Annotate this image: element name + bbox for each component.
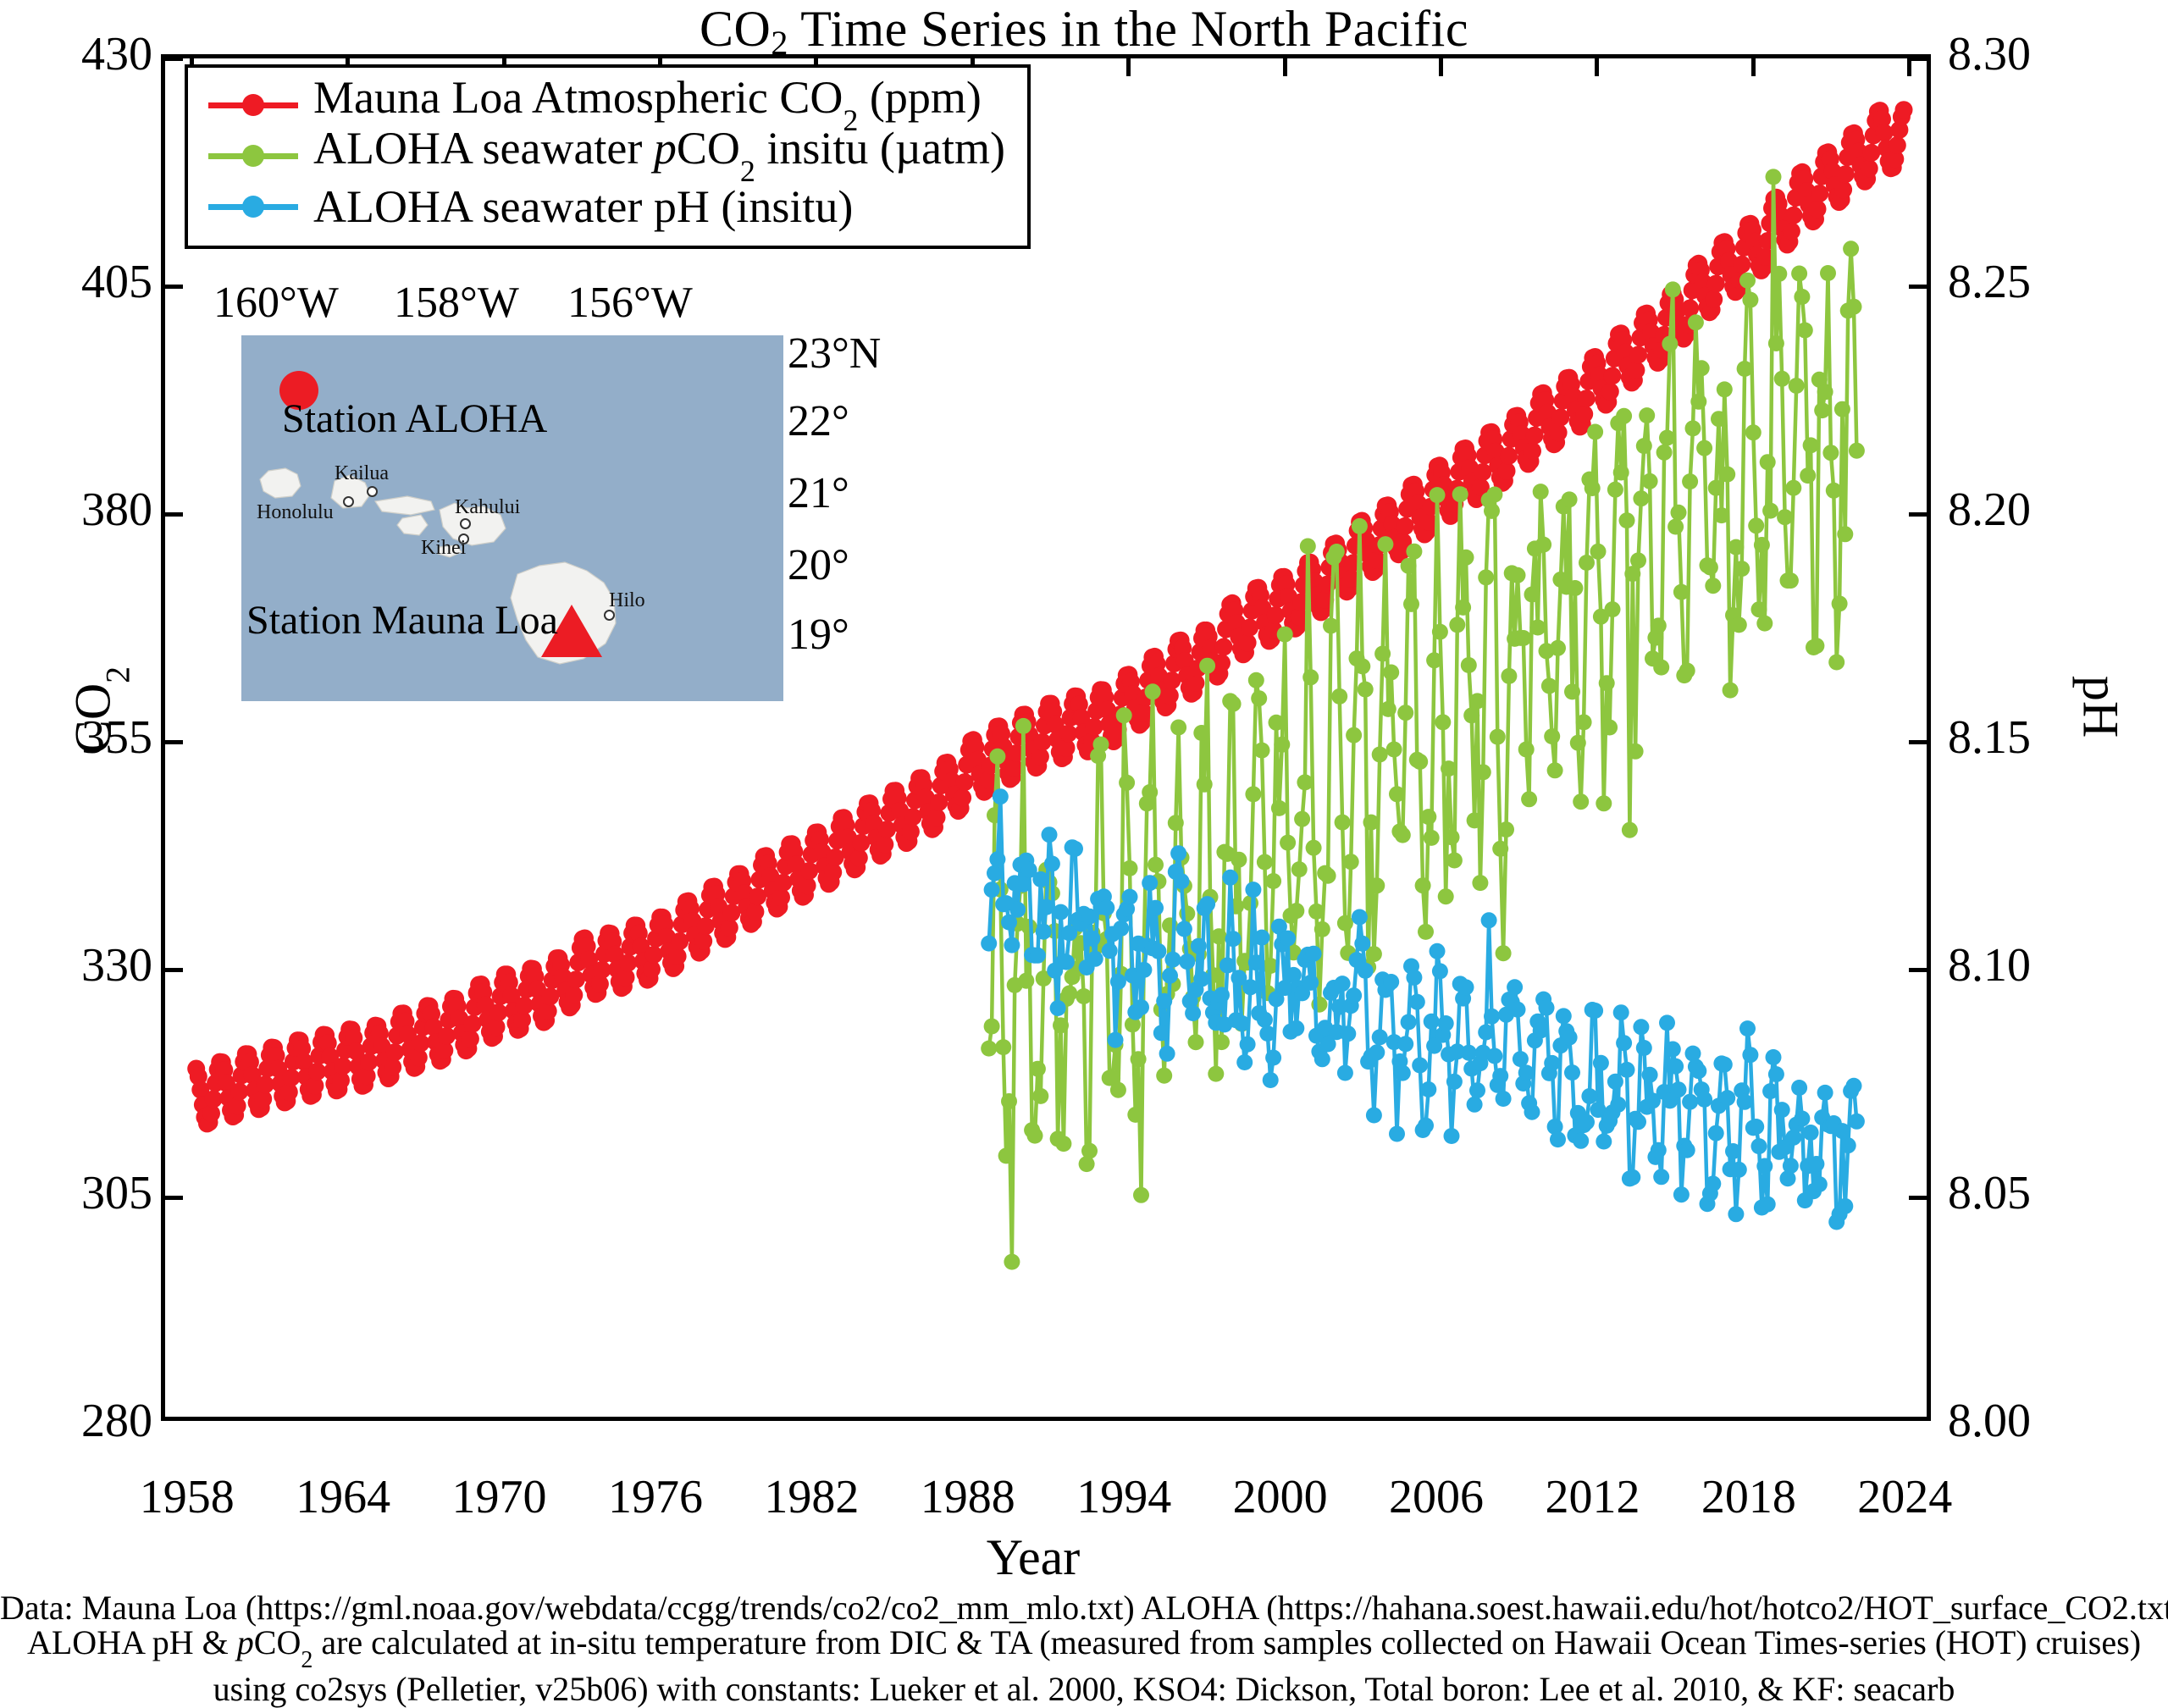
data-point — [1783, 572, 1799, 589]
data-point — [1055, 1136, 1071, 1152]
data-point — [1438, 1015, 1454, 1031]
data-point — [1619, 512, 1635, 528]
data-point — [1245, 786, 1261, 802]
data-point — [1642, 473, 1658, 489]
data-point — [1659, 1014, 1675, 1031]
data-point — [1142, 784, 1158, 800]
data-point — [1616, 1035, 1632, 1051]
legend-item-aloha-pco2[interactable]: ALOHA seawater pCO2 insitu (µatm) — [203, 130, 1005, 181]
data-point — [1335, 815, 1351, 831]
xtick-mark-top — [1283, 58, 1287, 76]
ytick-mark-left — [164, 512, 183, 517]
data-point — [1760, 454, 1776, 470]
data-point — [1302, 669, 1319, 685]
data-point — [930, 793, 948, 811]
data-point — [1521, 791, 1537, 807]
data-point — [1627, 362, 1645, 379]
y-tick-left-280: 280 — [0, 1397, 152, 1445]
ytick-mark-right — [1909, 740, 1927, 744]
data-point — [1478, 569, 1494, 585]
data-point — [1446, 853, 1463, 869]
data-point — [1274, 737, 1290, 753]
data-point — [1113, 920, 1129, 937]
data-point — [1728, 1206, 1744, 1222]
ytick-mark-right — [1909, 512, 1927, 517]
data-point — [1377, 536, 1393, 552]
data-point — [1679, 663, 1695, 679]
data-point — [1832, 595, 1848, 611]
data-point — [1372, 747, 1388, 763]
data-point — [1533, 1023, 1549, 1039]
figure-root: CO2 Time Series in the North Pacific CO2… — [0, 0, 2168, 1691]
data-point — [1578, 390, 1596, 407]
data-point — [1573, 793, 1589, 810]
data-point — [1484, 1009, 1500, 1025]
ytick-mark-right — [1909, 968, 1927, 972]
data-point — [335, 1058, 352, 1075]
data-point — [567, 970, 585, 988]
data-point — [1808, 1156, 1824, 1172]
data-point — [1403, 596, 1419, 612]
data-point — [1596, 1134, 1612, 1150]
data-point — [1705, 578, 1721, 594]
data-point — [1193, 725, 1209, 741]
data-point — [981, 1041, 997, 1057]
data-point — [1397, 705, 1413, 721]
data-point — [1231, 852, 1247, 868]
data-point — [1840, 1137, 1856, 1153]
data-point — [1145, 683, 1161, 699]
y-tick-left-380: 380 — [0, 486, 152, 533]
data-point — [1717, 1057, 1733, 1073]
data-point — [1340, 1025, 1356, 1042]
data-point — [1737, 1094, 1753, 1110]
data-point — [1739, 1020, 1756, 1036]
data-point — [1032, 871, 1048, 887]
data-point — [1254, 743, 1270, 759]
data-point — [1599, 675, 1615, 691]
data-point — [1162, 968, 1178, 984]
city-dot-kailua — [367, 486, 378, 497]
data-point — [1389, 1126, 1405, 1142]
data-point — [995, 1039, 1011, 1055]
data-point — [593, 961, 611, 979]
y-tick-left-355: 355 — [0, 714, 152, 761]
lat-label-23n: 23°N — [788, 330, 881, 378]
data-point — [1811, 1176, 1828, 1192]
data-point — [1435, 714, 1451, 730]
data-point — [694, 932, 712, 950]
data-point — [1590, 544, 1607, 560]
data-point — [1116, 707, 1132, 723]
data-point — [1731, 1162, 1747, 1178]
data-point — [1245, 882, 1261, 898]
y-tick-right-8.15: 8.15 — [1948, 714, 2151, 761]
data-point — [1688, 314, 1704, 330]
data-point — [1420, 1081, 1436, 1097]
data-point — [1449, 616, 1465, 633]
data-point — [462, 1030, 479, 1047]
data-point — [775, 874, 793, 892]
data-point — [1156, 1068, 1172, 1084]
data-point — [1895, 101, 1913, 119]
data-point — [1662, 336, 1678, 352]
data-point — [1705, 290, 1723, 308]
x-tick-2024: 2024 — [1811, 1473, 1998, 1521]
data-point — [1719, 1090, 1735, 1106]
data-point — [438, 1027, 456, 1045]
data-point — [1110, 974, 1126, 990]
data-point — [1306, 840, 1322, 856]
chart-title-pre: CO — [700, 1, 771, 57]
legend[interactable]: Mauna Loa Atmospheric CO2 (ppm) ALOHA se… — [185, 64, 1031, 249]
data-point — [1412, 1058, 1428, 1074]
data-point — [1142, 875, 1158, 891]
data-point — [1760, 1197, 1776, 1213]
data-point — [1785, 207, 1803, 224]
data-point — [1122, 860, 1138, 876]
data-point — [1386, 742, 1402, 758]
data-point — [1199, 896, 1215, 912]
data-point — [1329, 544, 1345, 560]
data-point — [1430, 487, 1446, 503]
data-point — [230, 1083, 248, 1101]
data-point — [1294, 811, 1310, 827]
data-point — [1076, 988, 1092, 1004]
data-point — [1567, 580, 1583, 596]
data-point — [1383, 665, 1399, 681]
data-point — [1550, 423, 1568, 441]
data-point — [1409, 994, 1425, 1010]
data-point — [1254, 930, 1270, 946]
data-point — [1086, 718, 1103, 736]
data-point — [1564, 683, 1580, 699]
data-point — [1581, 1088, 1597, 1104]
data-point — [1484, 503, 1500, 519]
data-point — [1731, 616, 1747, 633]
data-point — [1127, 1107, 1143, 1123]
data-point — [1475, 764, 1491, 780]
data-point — [1380, 701, 1396, 717]
data-point — [1619, 1062, 1635, 1078]
data-point — [1633, 1019, 1649, 1035]
data-point — [1059, 725, 1077, 743]
data-point — [800, 862, 818, 880]
data-point — [1185, 1005, 1201, 1021]
data-point — [1513, 1051, 1529, 1067]
data-point — [1042, 826, 1058, 843]
data-point — [1168, 815, 1184, 831]
data-point — [1541, 678, 1557, 694]
data-point — [998, 1147, 1015, 1164]
ytick-mark-left — [164, 1196, 183, 1200]
data-point — [1211, 928, 1227, 944]
lon-label-156w: 156°W — [567, 279, 693, 327]
data-point — [1705, 1175, 1721, 1191]
data-point — [1616, 408, 1632, 424]
data-point — [1059, 954, 1075, 970]
data-point — [1191, 938, 1207, 954]
data-point — [1277, 627, 1293, 643]
data-point — [1438, 888, 1454, 904]
data-point — [1412, 754, 1428, 770]
data-point — [1271, 800, 1287, 816]
caption-line-1: Data: Mauna Loa (https://gml.noaa.gov/we… — [0, 1590, 2168, 1625]
data-point — [1889, 136, 1906, 154]
station-mauna-loa-label: Station Mauna Loa — [246, 600, 558, 642]
legend-item-aloha-ph[interactable]: ALOHA seawater pH (insitu) — [203, 181, 1005, 232]
data-point — [1518, 1064, 1535, 1081]
data-point — [669, 948, 687, 965]
data-point — [827, 848, 844, 866]
data-point — [1170, 720, 1186, 736]
data-point — [1673, 584, 1690, 600]
ytick-mark-left — [164, 968, 183, 972]
data-point — [1682, 1094, 1698, 1110]
data-point — [1685, 1046, 1701, 1062]
lon-label-158w: 158°W — [394, 279, 519, 327]
xtick-mark-top — [1126, 58, 1131, 76]
caption-line-3: using co2sys (Pelletier, v25b06) with co… — [0, 1672, 2168, 1706]
data-point — [1667, 1059, 1684, 1075]
data-point — [1587, 424, 1603, 440]
data-point — [989, 749, 1005, 765]
data-point — [697, 917, 715, 935]
data-point — [1690, 394, 1706, 410]
data-point — [1550, 640, 1566, 656]
data-point — [1808, 638, 1824, 654]
data-point — [1219, 958, 1236, 974]
inset-map: Station ALOHA Station Mauna Loa Kailua H… — [241, 335, 783, 701]
city-label-hilo: Hilo — [609, 589, 645, 611]
data-point — [1809, 200, 1827, 218]
data-point — [1777, 509, 1793, 525]
data-point — [1748, 1119, 1764, 1135]
data-point — [1535, 537, 1551, 553]
data-point — [1432, 963, 1448, 979]
y-axis-left-title: CO2 — [64, 583, 130, 837]
data-point — [1446, 1074, 1463, 1090]
data-point — [1242, 979, 1258, 995]
data-point — [1267, 606, 1285, 624]
data-point — [1756, 1158, 1773, 1175]
data-point — [1639, 407, 1655, 423]
data-point — [1469, 693, 1485, 709]
data-point — [1280, 835, 1296, 851]
data-point — [386, 1043, 404, 1061]
data-point — [1551, 409, 1569, 427]
city-label-honolulu: Honolulu — [257, 501, 334, 523]
data-point — [1164, 952, 1181, 968]
data-point — [1153, 1025, 1170, 1041]
data-point — [1265, 873, 1281, 889]
data-point — [1213, 654, 1231, 672]
data-point — [1575, 405, 1593, 423]
data-point — [1396, 517, 1414, 535]
data-point — [1496, 1091, 1512, 1107]
data-point — [1529, 620, 1546, 636]
data-point — [1234, 1015, 1250, 1031]
data-point — [1510, 1002, 1526, 1018]
data-point — [1826, 483, 1842, 499]
caption-line-2: ALOHA pH & pCO2 are calculated at in-sit… — [0, 1625, 2168, 1672]
data-point — [1030, 1061, 1046, 1077]
data-point — [1748, 517, 1764, 533]
data-point — [1346, 727, 1362, 743]
data-point — [1862, 144, 1880, 162]
data-point — [1846, 1078, 1862, 1094]
data-point — [1358, 963, 1374, 979]
data-point — [1093, 737, 1109, 753]
legend-label-aloha-pco2: ALOHA seawater pCO2 insitu (µatm) — [303, 124, 1005, 188]
data-point — [1849, 1114, 1865, 1130]
data-point — [1613, 1004, 1629, 1020]
data-point — [1131, 1051, 1147, 1067]
data-point — [1613, 465, 1629, 481]
data-point — [989, 851, 1005, 867]
data-point — [1596, 795, 1612, 811]
data-point — [1803, 437, 1819, 453]
data-point — [1389, 786, 1405, 802]
data-point — [1671, 505, 1687, 521]
ytick-mark-left — [164, 57, 183, 61]
data-point — [1803, 1125, 1819, 1141]
data-point — [1665, 281, 1681, 297]
data-point — [1707, 275, 1725, 293]
data-point — [1490, 729, 1506, 745]
data-point — [1601, 720, 1618, 736]
legend-label-aloha-ph: ALOHA seawater pH (insitu) — [303, 182, 853, 231]
data-point — [1702, 560, 1718, 576]
data-point — [1564, 1064, 1580, 1081]
data-point — [645, 946, 663, 964]
data-point — [1828, 655, 1844, 671]
data-point — [1708, 480, 1724, 496]
data-point — [1452, 486, 1468, 502]
data-point — [1015, 876, 1031, 893]
data-point — [1800, 467, 1816, 484]
data-point — [1665, 1042, 1681, 1058]
data-point — [1215, 638, 1233, 655]
data-point — [1659, 430, 1675, 446]
data-point — [1354, 936, 1370, 952]
data-point — [1791, 1080, 1807, 1096]
data-point — [1820, 265, 1836, 281]
data-point — [1785, 480, 1801, 496]
figure-caption: Data: Mauna Loa (https://gml.noaa.gov/we… — [0, 1590, 2168, 1706]
data-point — [1630, 552, 1646, 568]
data-point — [1526, 427, 1544, 445]
data-point — [1337, 915, 1353, 931]
data-point — [1653, 1169, 1669, 1185]
data-point — [1501, 668, 1517, 684]
data-point — [1846, 299, 1862, 315]
data-point — [1518, 742, 1535, 758]
data-point — [1550, 1131, 1566, 1147]
city-dot-honolulu — [343, 496, 354, 507]
data-point — [984, 882, 1000, 898]
data-point — [1248, 672, 1264, 688]
data-point — [1713, 507, 1729, 523]
data-point — [1751, 1138, 1767, 1154]
data-point — [1441, 760, 1457, 777]
data-point — [1725, 1143, 1741, 1159]
data-point — [541, 987, 559, 1005]
data-point — [1251, 690, 1267, 706]
data-point — [1161, 687, 1179, 705]
data-point — [1481, 912, 1497, 928]
data-point — [1861, 159, 1878, 177]
data-point — [928, 809, 946, 826]
inset-map-container: 160°W 158°W 156°W 23°N 22° 21° 20° 19° — [195, 279, 889, 703]
data-point — [1401, 1014, 1417, 1031]
data-point — [1084, 931, 1100, 947]
data-point — [1240, 1036, 1256, 1053]
data-point — [1067, 841, 1083, 857]
data-point — [1444, 829, 1460, 845]
data-point — [1690, 1063, 1706, 1079]
data-point — [987, 865, 1003, 882]
data-point — [1415, 877, 1431, 893]
data-point — [721, 919, 738, 937]
data-point — [1395, 1065, 1411, 1081]
data-point — [1696, 1092, 1712, 1108]
data-point — [1544, 728, 1560, 744]
data-point — [1605, 601, 1621, 617]
data-point — [1630, 1114, 1646, 1130]
xtick-mark-top — [1439, 58, 1443, 76]
data-point — [1849, 443, 1865, 459]
data-point — [1265, 1050, 1281, 1066]
data-point — [1269, 715, 1285, 731]
x-axis-title: Year — [0, 1528, 2066, 1587]
data-point — [1742, 292, 1758, 308]
data-point — [1108, 1032, 1124, 1048]
data-point — [1401, 558, 1417, 574]
data-point — [1461, 657, 1477, 673]
data-point — [1314, 1051, 1330, 1067]
data-point — [1426, 652, 1442, 668]
data-point — [1754, 537, 1770, 553]
data-point — [1711, 411, 1727, 427]
data-point — [1331, 688, 1347, 705]
data-point — [1397, 1036, 1413, 1052]
data-point — [1667, 519, 1684, 535]
data-point — [1570, 735, 1586, 751]
data-point — [1044, 856, 1060, 872]
data-point — [1498, 821, 1514, 837]
city-label-kailua: Kailua — [335, 462, 389, 484]
data-point — [1756, 616, 1773, 632]
data-point — [1469, 1082, 1485, 1098]
data-point — [1498, 462, 1516, 480]
data-point — [1622, 822, 1638, 838]
data-point — [1794, 1111, 1810, 1127]
data-point — [1500, 447, 1518, 465]
data-point — [1133, 999, 1149, 1015]
data-point — [1717, 381, 1733, 397]
legend-swatch-aloha-ph — [203, 181, 303, 232]
data-point — [1372, 1029, 1388, 1045]
lat-label-22: 22° — [788, 398, 849, 445]
data-point — [1358, 682, 1374, 698]
data-point — [1762, 1083, 1778, 1099]
data-point — [1789, 378, 1805, 394]
y-tick-right-8.05: 8.05 — [1948, 1169, 2151, 1217]
data-point — [1053, 1017, 1069, 1033]
data-point — [1562, 491, 1578, 507]
data-point — [1280, 931, 1296, 947]
